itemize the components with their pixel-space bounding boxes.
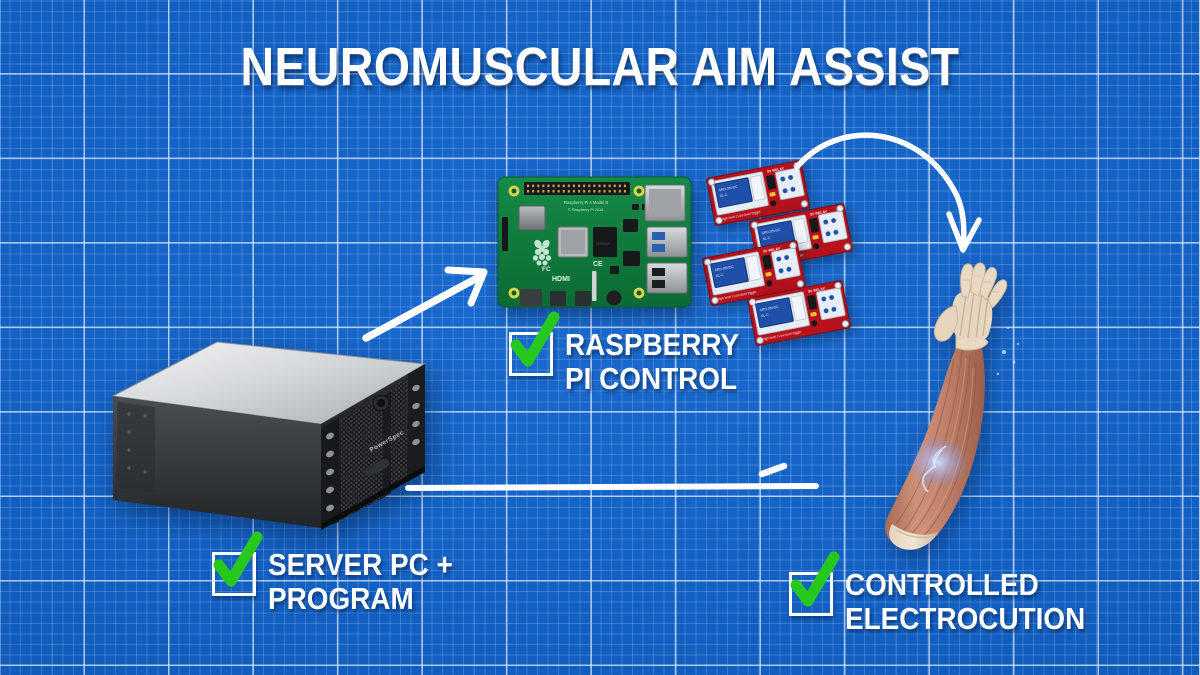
check-icon [786, 551, 842, 613]
sparkle-dots-icon [989, 319, 1019, 376]
server-pc-image: PowerSpec [95, 332, 440, 547]
gpio-header [524, 182, 630, 195]
pi-copyright-silkscreen: © Raspberry Pi 2018 [568, 208, 603, 212]
checklist-label-server-pc-program: SERVER PC + PROGRAM [268, 548, 453, 616]
pi-usbc-power-port [520, 289, 542, 306]
checklist-item-controlled-electrocution[interactable]: CONTROLLED ELECTROCUTION [789, 568, 1112, 636]
server-chassis-svg: PowerSpec [95, 332, 440, 547]
checklist-item-server-pc-program[interactable]: SERVER PC + PROGRAM [212, 548, 473, 616]
pi-hdmi1-port [575, 291, 591, 306]
pi-hdmi0-port [550, 291, 566, 306]
raspberry-pi-svg: Raspberry Pi 4 Model B © Raspberry Pi 20… [492, 171, 697, 313]
slide-canvas: NEUROMUSCULAR AIM ASSIST [0, 0, 1200, 675]
checklist-label-raspberry-pi-control: RASPBERRY PI CONTROL [565, 328, 739, 396]
pi-model-silkscreen: Raspberry Pi 4 Model B [564, 200, 608, 205]
checklist-item-raspberry-pi-control[interactable]: RASPBERRY PI CONTROL [509, 328, 759, 396]
arrow-server-to-pi [366, 270, 484, 338]
raspberry-pi-image: Raspberry Pi 4 Model B © Raspberry Pi 20… [492, 171, 697, 313]
pi-audio-jack [607, 291, 622, 306]
checkbox-controlled-electrocution[interactable] [789, 572, 833, 616]
check-icon [506, 311, 562, 373]
checkbox-server-pc-program[interactable] [212, 552, 256, 596]
pi-fcc-mark: FC [542, 266, 551, 273]
checklist-label-controlled-electrocution: CONTROLLED ELECTROCUTION [845, 568, 1085, 636]
page-title: NEUROMUSCULAR AIM ASSIST [84, 38, 1116, 96]
forearm-svg [872, 262, 1032, 557]
server-power-button[interactable] [373, 396, 389, 411]
pi-ce-mark: CE [593, 261, 603, 268]
svg-text:SDRAM: SDRAM [596, 242, 609, 246]
pi-hdmi-label: HDMI [552, 276, 570, 283]
line-server-to-arm [408, 466, 816, 488]
pi-usb3-port [647, 227, 687, 257]
checkbox-raspberry-pi-control[interactable] [509, 332, 553, 376]
anatomical-forearm-image [872, 262, 1032, 557]
pi-usb2-port [647, 263, 687, 293]
